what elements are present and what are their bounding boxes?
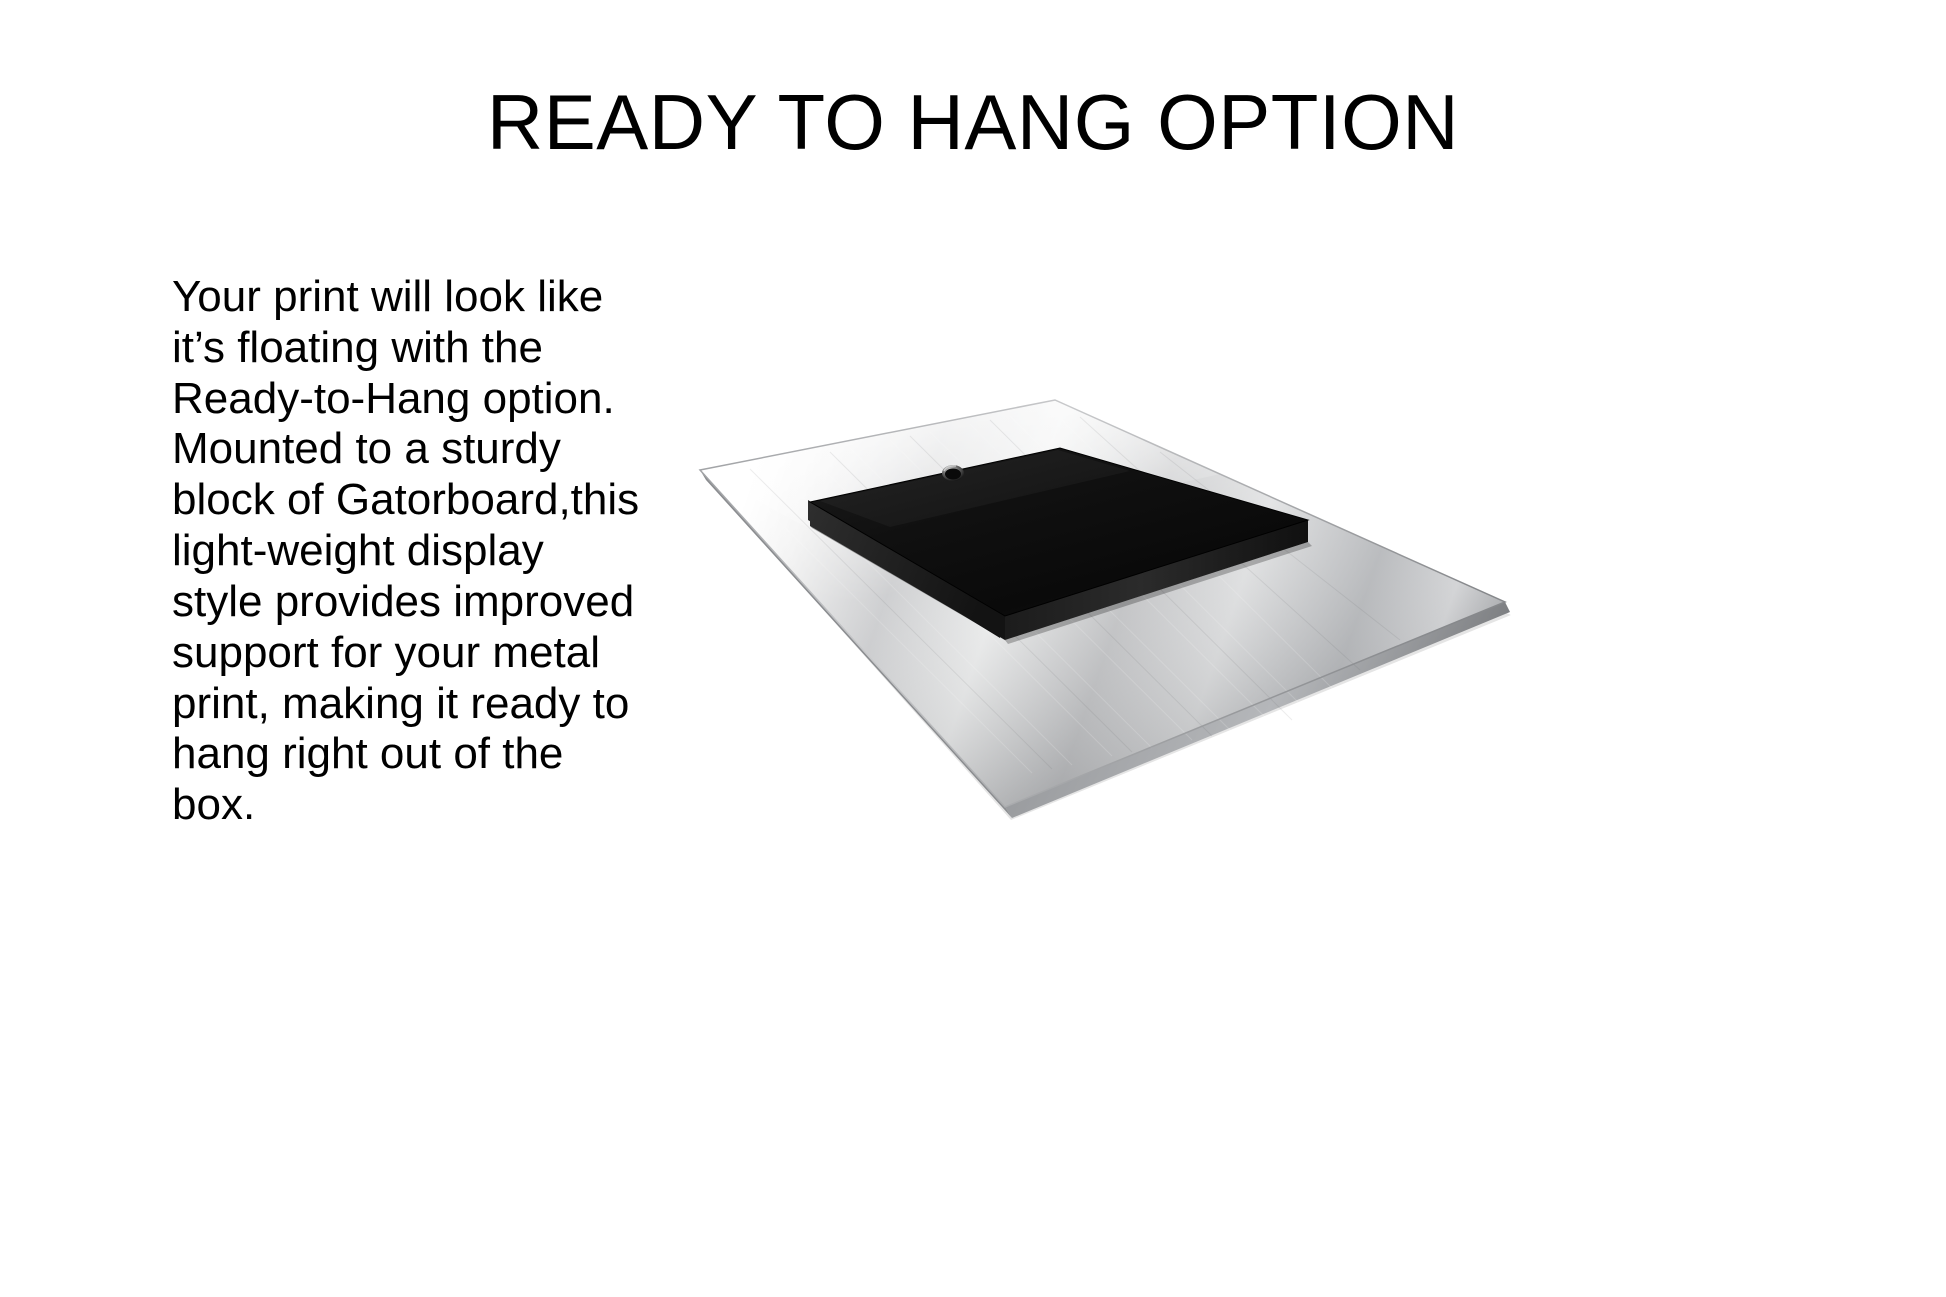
body-line: block of Gatorboard,this (172, 475, 612, 526)
body-line: Your print will look like (172, 272, 612, 323)
body-line: hang right out of the (172, 729, 612, 780)
body-line: print, making it ready to (172, 679, 612, 730)
body-line: style provides improved (172, 577, 612, 628)
slide-canvas: READY TO HANG OPTION Your print will loo… (0, 0, 1946, 1297)
body-paragraph: Your print will look like it’s floating … (172, 272, 612, 831)
body-line: light-weight display (172, 526, 612, 577)
body-line: Ready-to-Hang option. (172, 374, 612, 425)
product-photo (660, 370, 1540, 840)
body-line: support for your metal (172, 628, 612, 679)
body-line: box. (172, 780, 612, 831)
page-title: READY TO HANG OPTION (0, 82, 1946, 164)
hanger-hole-icon (942, 465, 964, 481)
body-line: Mounted to a sturdy (172, 424, 612, 475)
body-line: it’s floating with the (172, 323, 612, 374)
